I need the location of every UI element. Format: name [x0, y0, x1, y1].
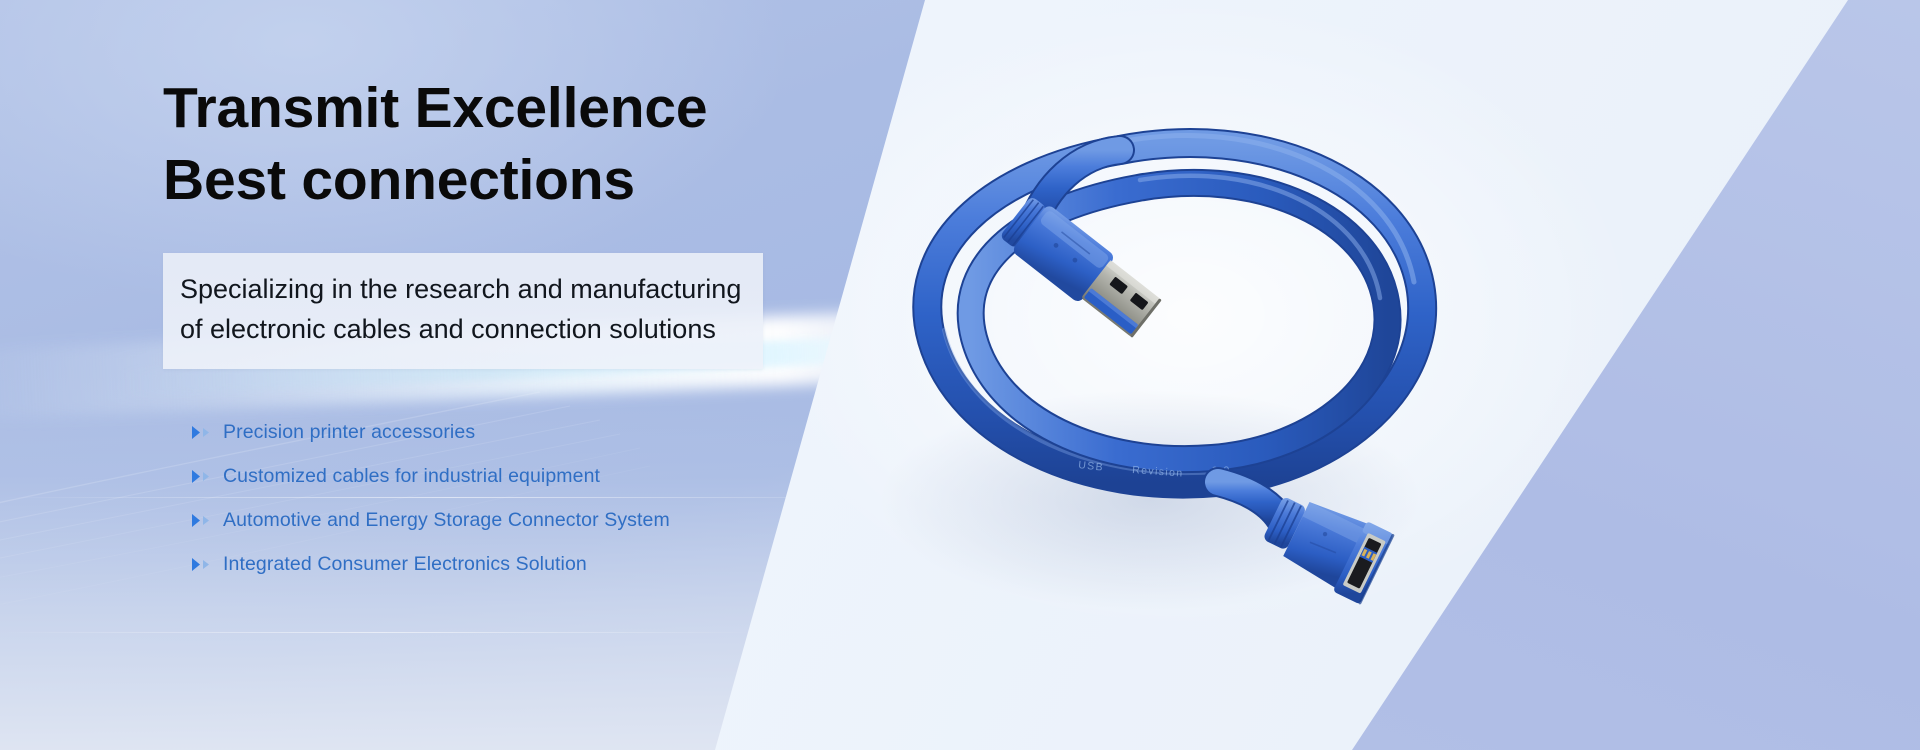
- usb-cable-product-image: USB Revision 3.0: [820, 30, 1520, 730]
- list-item[interactable]: Customized cables for industrial equipme…: [191, 465, 923, 489]
- subtitle-box: Specializing in the research and manufac…: [163, 253, 763, 369]
- list-item-label: Precision printer accessories: [223, 421, 475, 444]
- double-chevron-right-icon: [191, 513, 213, 528]
- page-title: Transmit Excellence Best connections: [163, 72, 923, 217]
- list-item-label: Customized cables for industrial equipme…: [223, 465, 600, 488]
- subtitle-line-1: Specializing in the research and manufac…: [180, 270, 741, 310]
- list-item[interactable]: Automotive and Energy Storage Connector …: [191, 509, 923, 533]
- double-chevron-right-icon: [191, 557, 213, 572]
- list-item-label: Automotive and Energy Storage Connector …: [223, 509, 670, 532]
- list-item[interactable]: Precision printer accessories: [191, 421, 923, 445]
- hero-banner: USB Revision 3.0: [0, 0, 1920, 750]
- headline-line-2: Best connections: [163, 144, 923, 216]
- subtitle: Specializing in the research and manufac…: [180, 270, 741, 350]
- feature-list: Precision printer accessories Customized…: [191, 421, 923, 577]
- background-horizon-line-2: [0, 632, 760, 633]
- double-chevron-right-icon: [191, 469, 213, 484]
- headline-line-1: Transmit Excellence: [163, 72, 923, 144]
- list-item[interactable]: Integrated Consumer Electronics Solution: [191, 553, 923, 577]
- list-item-label: Integrated Consumer Electronics Solution: [223, 553, 587, 576]
- banner-content: Transmit Excellence Best connections Spe…: [163, 72, 923, 597]
- subtitle-line-2: of electronic cables and connection solu…: [180, 310, 741, 350]
- double-chevron-right-icon: [191, 425, 213, 440]
